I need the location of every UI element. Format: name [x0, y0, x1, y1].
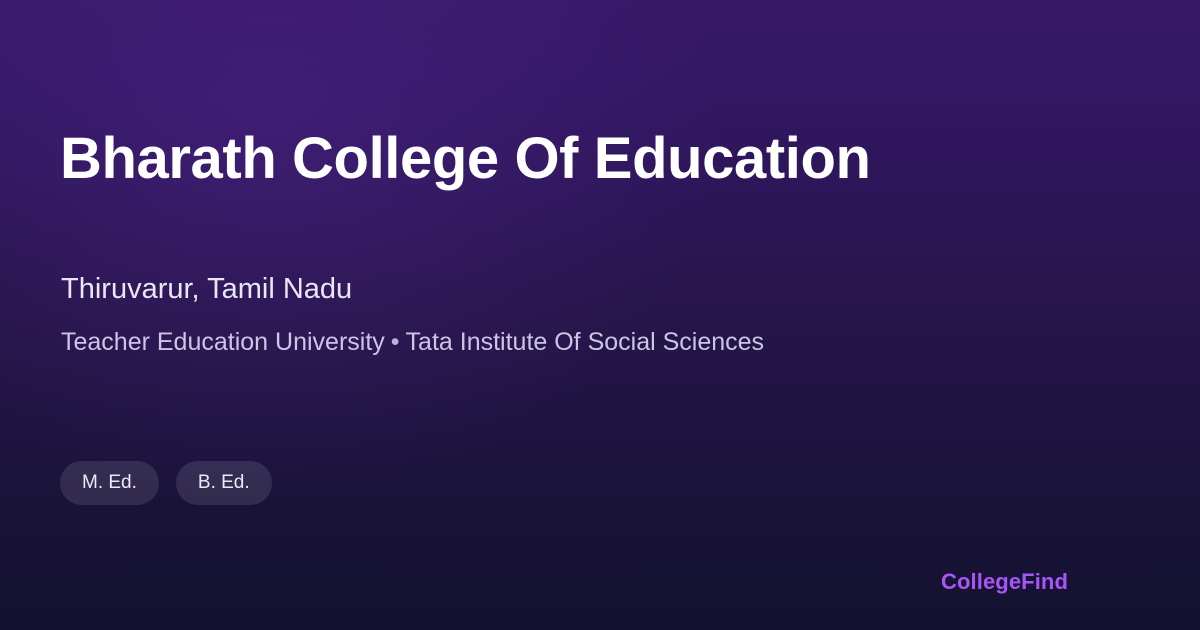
- program-badge-b-ed[interactable]: B. Ed.: [176, 461, 272, 505]
- brand-logo-text: CollegeFind: [941, 569, 1068, 595]
- page-title: Bharath College Of Education: [60, 126, 871, 193]
- institution-type: Teacher Education University: [61, 328, 385, 356]
- program-badge-m-ed[interactable]: M. Ed.: [60, 461, 159, 505]
- program-badge-list: M. Ed. B. Ed.: [60, 461, 272, 505]
- affiliating-university: Tata Institute Of Social Sciences: [406, 328, 765, 356]
- bullet-separator-icon: •: [385, 328, 406, 356]
- card-content: Bharath College Of Education Thiruvarur,…: [60, 0, 1140, 630]
- location-text: Thiruvarur, Tamil Nadu: [61, 272, 352, 307]
- affiliation-line: Teacher Education University•Tata Instit…: [61, 327, 764, 357]
- og-share-card: Bharath College Of Education Thiruvarur,…: [0, 0, 1200, 630]
